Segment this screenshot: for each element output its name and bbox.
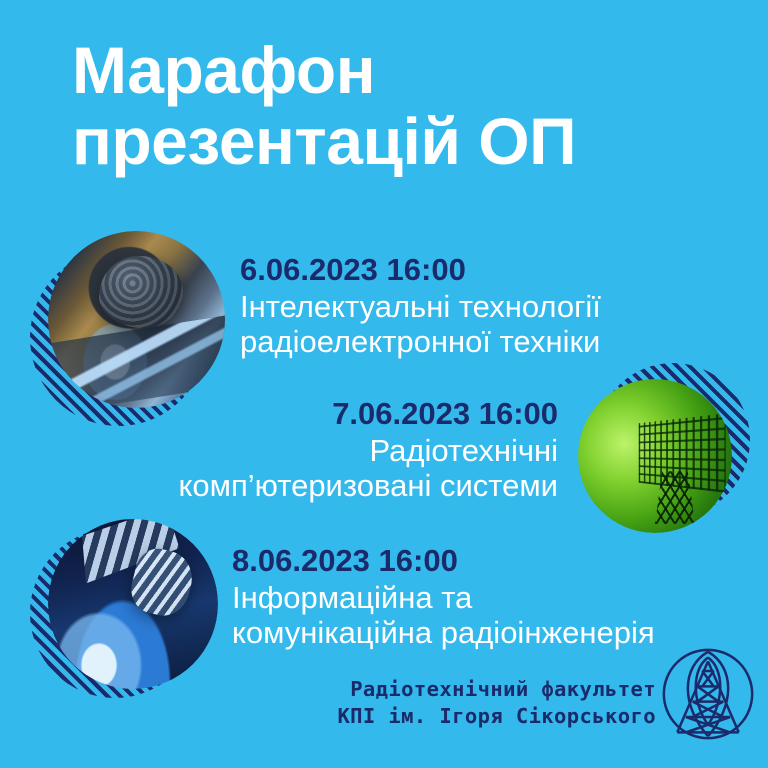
event-image-3 <box>48 519 218 689</box>
event-image-2 <box>578 379 732 533</box>
event-1-date: 6.06.2023 16:00 <box>240 252 601 289</box>
green-radar-antenna-photo <box>578 379 732 533</box>
event-image-1 <box>48 231 225 408</box>
event-2-name-line-2: комп’ютеризовані системи <box>179 468 558 504</box>
event-block-2: 7.06.2023 16:00 Радіотехнічні комп’ютери… <box>179 396 558 504</box>
title-line-2: презентацій ОП <box>72 109 732 174</box>
radio-tower-circle-logo <box>660 646 756 742</box>
event-block-1: 6.06.2023 16:00 Інтелектуальні технологі… <box>240 252 601 360</box>
title-line-1: Марафон <box>72 38 732 103</box>
event-3-name-line-2: комунікаційна радіоінженерія <box>232 615 655 651</box>
footer-line-1: Радіотехнічний факультет <box>337 676 656 703</box>
footer-credit: Радіотехнічний факультет КПІ ім. Ігоря С… <box>337 676 656 730</box>
brain-on-tech-platform-photo <box>48 231 225 408</box>
event-1-name-line-2: радіоелектронної техніки <box>240 324 601 360</box>
event-3-name-line-1: Інформаційна та <box>232 580 655 616</box>
event-block-3: 8.06.2023 16:00 Інформаційна та комуніка… <box>232 543 655 651</box>
event-2-name-line-1: Радіотехнічні <box>179 433 558 469</box>
poster-title: Марафон презентацій ОП <box>72 38 732 173</box>
footer-line-2: КПІ ім. Ігоря Сікорського <box>337 703 656 730</box>
poster-canvas: Марафон презентацій ОП 6.06.2023 16:00 І… <box>0 0 768 768</box>
event-3-date: 8.06.2023 16:00 <box>232 543 655 580</box>
event-2-date: 7.06.2023 16:00 <box>179 396 558 433</box>
satellite-over-earth-photo <box>48 519 218 689</box>
event-1-name-line-1: Інтелектуальні технології <box>240 289 601 325</box>
